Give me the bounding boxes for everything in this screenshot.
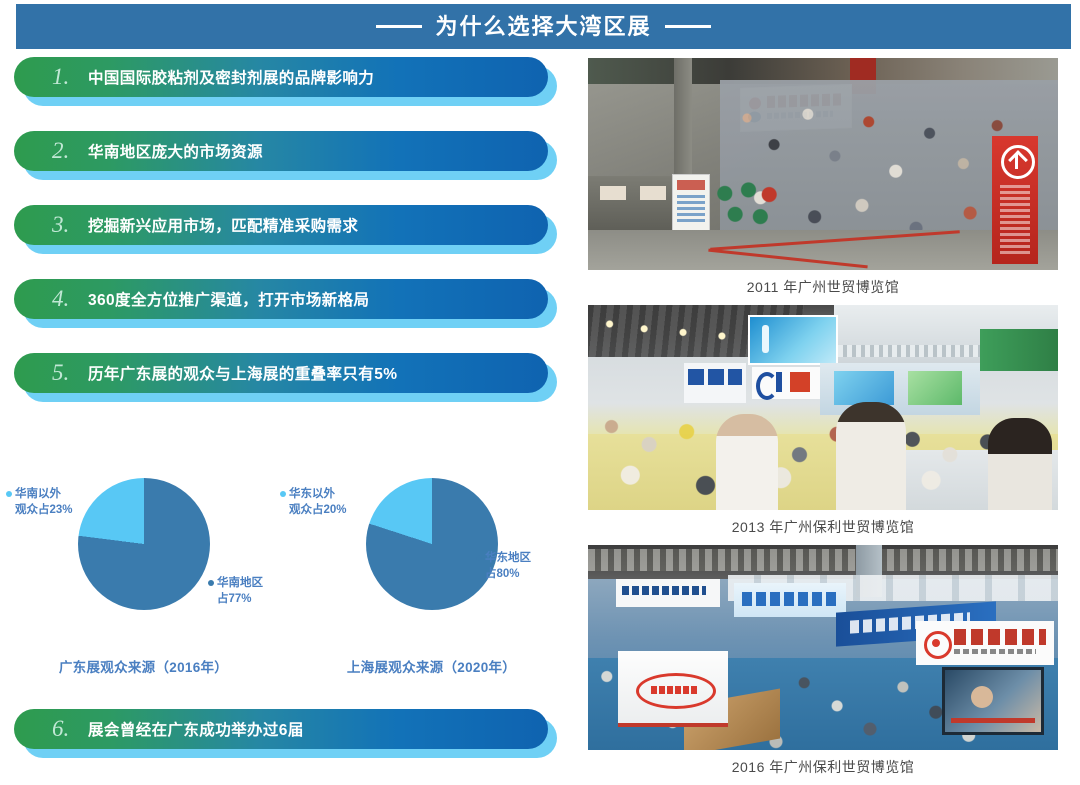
pie-chart-guangdong-2016: 华南以外 观众占23% 华南地区 占77% 广东展观众来源（2016年） xyxy=(0,468,287,698)
ceiling-truss xyxy=(588,549,1058,571)
reasons-column: 1. 中国国际胶粘剂及密封剂展的品牌影响力 2. 华南地区庞大的市场资源 3. … xyxy=(0,57,575,784)
reason-number: 2. xyxy=(52,138,88,164)
reason-item-4[interactable]: 4. 360度全方位推广渠道，打开市场新格局 xyxy=(14,279,562,325)
legend-dot-icon xyxy=(208,580,214,586)
pill-body[interactable]: 5. 历年广东展的观众与上海展的重叠率只有5% xyxy=(14,353,548,393)
photo-block-3: 2016 年广州保利世贸博览馆 xyxy=(588,545,1058,777)
photo-exhibition-registration xyxy=(588,58,1058,270)
pill-body[interactable]: 4. 360度全方位推广渠道，打开市场新格局 xyxy=(14,279,548,319)
page-title: 为什么选择大湾区展 xyxy=(435,16,651,38)
henkel-booth-sign xyxy=(618,651,728,727)
reason-text: 历年广东展的观众与上海展的重叠率只有5% xyxy=(88,362,397,384)
upper-booth-sign xyxy=(734,583,846,617)
sign-text-block xyxy=(742,592,836,606)
photo-caption: 2013 年广州保利世贸博览馆 xyxy=(588,510,1058,537)
reason-number: 6. xyxy=(52,716,88,742)
pie-slice-label-outside: 华南以外 观众占23% xyxy=(6,486,73,518)
photo-column: 2011 年广州世贸博览馆 xyxy=(588,58,1058,785)
reason-text: 展会曾经在广东成功举办过6届 xyxy=(88,718,304,740)
chart-caption: 上海展观众来源（2020年） xyxy=(288,656,575,676)
reason-item-5[interactable]: 5. 历年广东展的观众与上海展的重叠率只有5% xyxy=(14,353,562,399)
spacer xyxy=(0,325,575,353)
reason-text: 挖掘新兴应用市场，匹配精准采购需求 xyxy=(88,214,358,236)
poster-header xyxy=(677,180,705,190)
audience-source-charts: 华南以外 观众占23% 华南地区 占77% 广东展观众来源（2016年） 华东以… xyxy=(0,468,575,698)
pie-holder xyxy=(366,478,498,610)
spacer xyxy=(0,177,575,205)
chart-caption: 广东展观众来源（2016年） xyxy=(0,656,287,676)
sign-text-block xyxy=(1000,182,1030,254)
green-booth xyxy=(980,329,1058,371)
reason-number: 3. xyxy=(52,212,88,238)
poster-body xyxy=(677,195,705,225)
foreground-visitor xyxy=(988,418,1052,510)
reason-number: 4. xyxy=(52,286,88,312)
reason-item-6[interactable]: 6. 展会曾经在广东成功举办过6届 xyxy=(14,709,562,755)
pie-slice-label-main: 华南地区 占77% xyxy=(208,575,263,607)
staff-group xyxy=(710,176,784,234)
pill-body[interactable]: 2. 华南地区庞大的市场资源 xyxy=(14,131,548,171)
red-arrow-sign xyxy=(992,136,1038,264)
screen-lower-third xyxy=(951,718,1035,723)
pillar xyxy=(674,58,692,178)
spacer xyxy=(0,103,575,131)
photo-block-1: 2011 年广州世贸博览馆 xyxy=(588,58,1058,297)
pie-slice-label-outside: 华东以外 观众占20% xyxy=(280,486,347,518)
horizontal-rule-icon xyxy=(665,25,711,28)
comchem-booth-sign xyxy=(616,579,720,607)
pie-holder xyxy=(78,478,210,610)
video-screen xyxy=(942,667,1044,735)
photo-exhibition-aerial xyxy=(588,545,1058,750)
reason-number: 1. xyxy=(52,64,88,90)
pie-graphic xyxy=(78,478,210,610)
reason-number: 5. xyxy=(52,360,88,386)
reason-text: 中国国际胶粘剂及密封剂展的品牌影响力 xyxy=(88,66,374,88)
photo-block-2: 2013 年广州保利世贸博览馆 xyxy=(588,305,1058,537)
photo-caption: 2016 年广州保利世贸博览馆 xyxy=(588,750,1058,777)
legend-dot-icon xyxy=(476,555,482,561)
floor xyxy=(588,230,1058,270)
counter-plaque xyxy=(640,186,666,200)
spacer xyxy=(0,251,575,279)
photo-trade-show-aisle xyxy=(588,305,1058,510)
ceiling xyxy=(588,545,1058,579)
pill-body[interactable]: 6. 展会曾经在广东成功举办过6届 xyxy=(14,709,548,749)
foreground-visitor xyxy=(716,414,778,510)
photo-caption: 2011 年广州世贸博览馆 xyxy=(588,270,1058,297)
reason-text: 华南地区庞大的市场资源 xyxy=(88,140,263,162)
pie-chart-shanghai-2020: 华东以外 观众占20% 华东地区 占80% 上海展观众来源（2020年） xyxy=(288,468,575,698)
reason-item-2[interactable]: 2. 华南地区庞大的市场资源 xyxy=(14,131,562,177)
pie-slice-label-main: 华东地区 占80% xyxy=(476,550,531,582)
reason-item-1[interactable]: 1. 中国国际胶粘剂及密封剂展的品牌影响力 xyxy=(14,57,562,103)
pill-body[interactable]: 3. 挖掘新兴应用市场，匹配精准采购需求 xyxy=(14,205,548,245)
sign-text-block xyxy=(954,629,1046,645)
pie-graphic xyxy=(366,478,498,610)
sign-text-block xyxy=(622,586,706,595)
reason-item-3[interactable]: 3. 挖掘新兴应用市场，匹配精准采购需求 xyxy=(14,205,562,251)
horizontal-rule-icon xyxy=(376,25,422,28)
up-arrow-icon xyxy=(1001,145,1035,179)
header-inner: 为什么选择大湾区展 xyxy=(376,16,710,38)
henkel-logo-icon xyxy=(636,673,716,709)
legend-dot-icon xyxy=(280,491,286,497)
page-header: 为什么选择大湾区展 xyxy=(16,4,1071,49)
legend-dot-icon xyxy=(6,491,12,497)
foreground-visitor xyxy=(836,402,906,510)
reason-text: 360度全方位推广渠道，打开市场新格局 xyxy=(88,288,369,310)
blue-display-screen xyxy=(748,315,838,365)
counter-plaque xyxy=(600,186,626,200)
screen-figure xyxy=(971,686,993,708)
standing-poster xyxy=(672,174,710,234)
pill-body[interactable]: 1. 中国国际胶粘剂及密封剂展的品牌影响力 xyxy=(14,57,548,97)
